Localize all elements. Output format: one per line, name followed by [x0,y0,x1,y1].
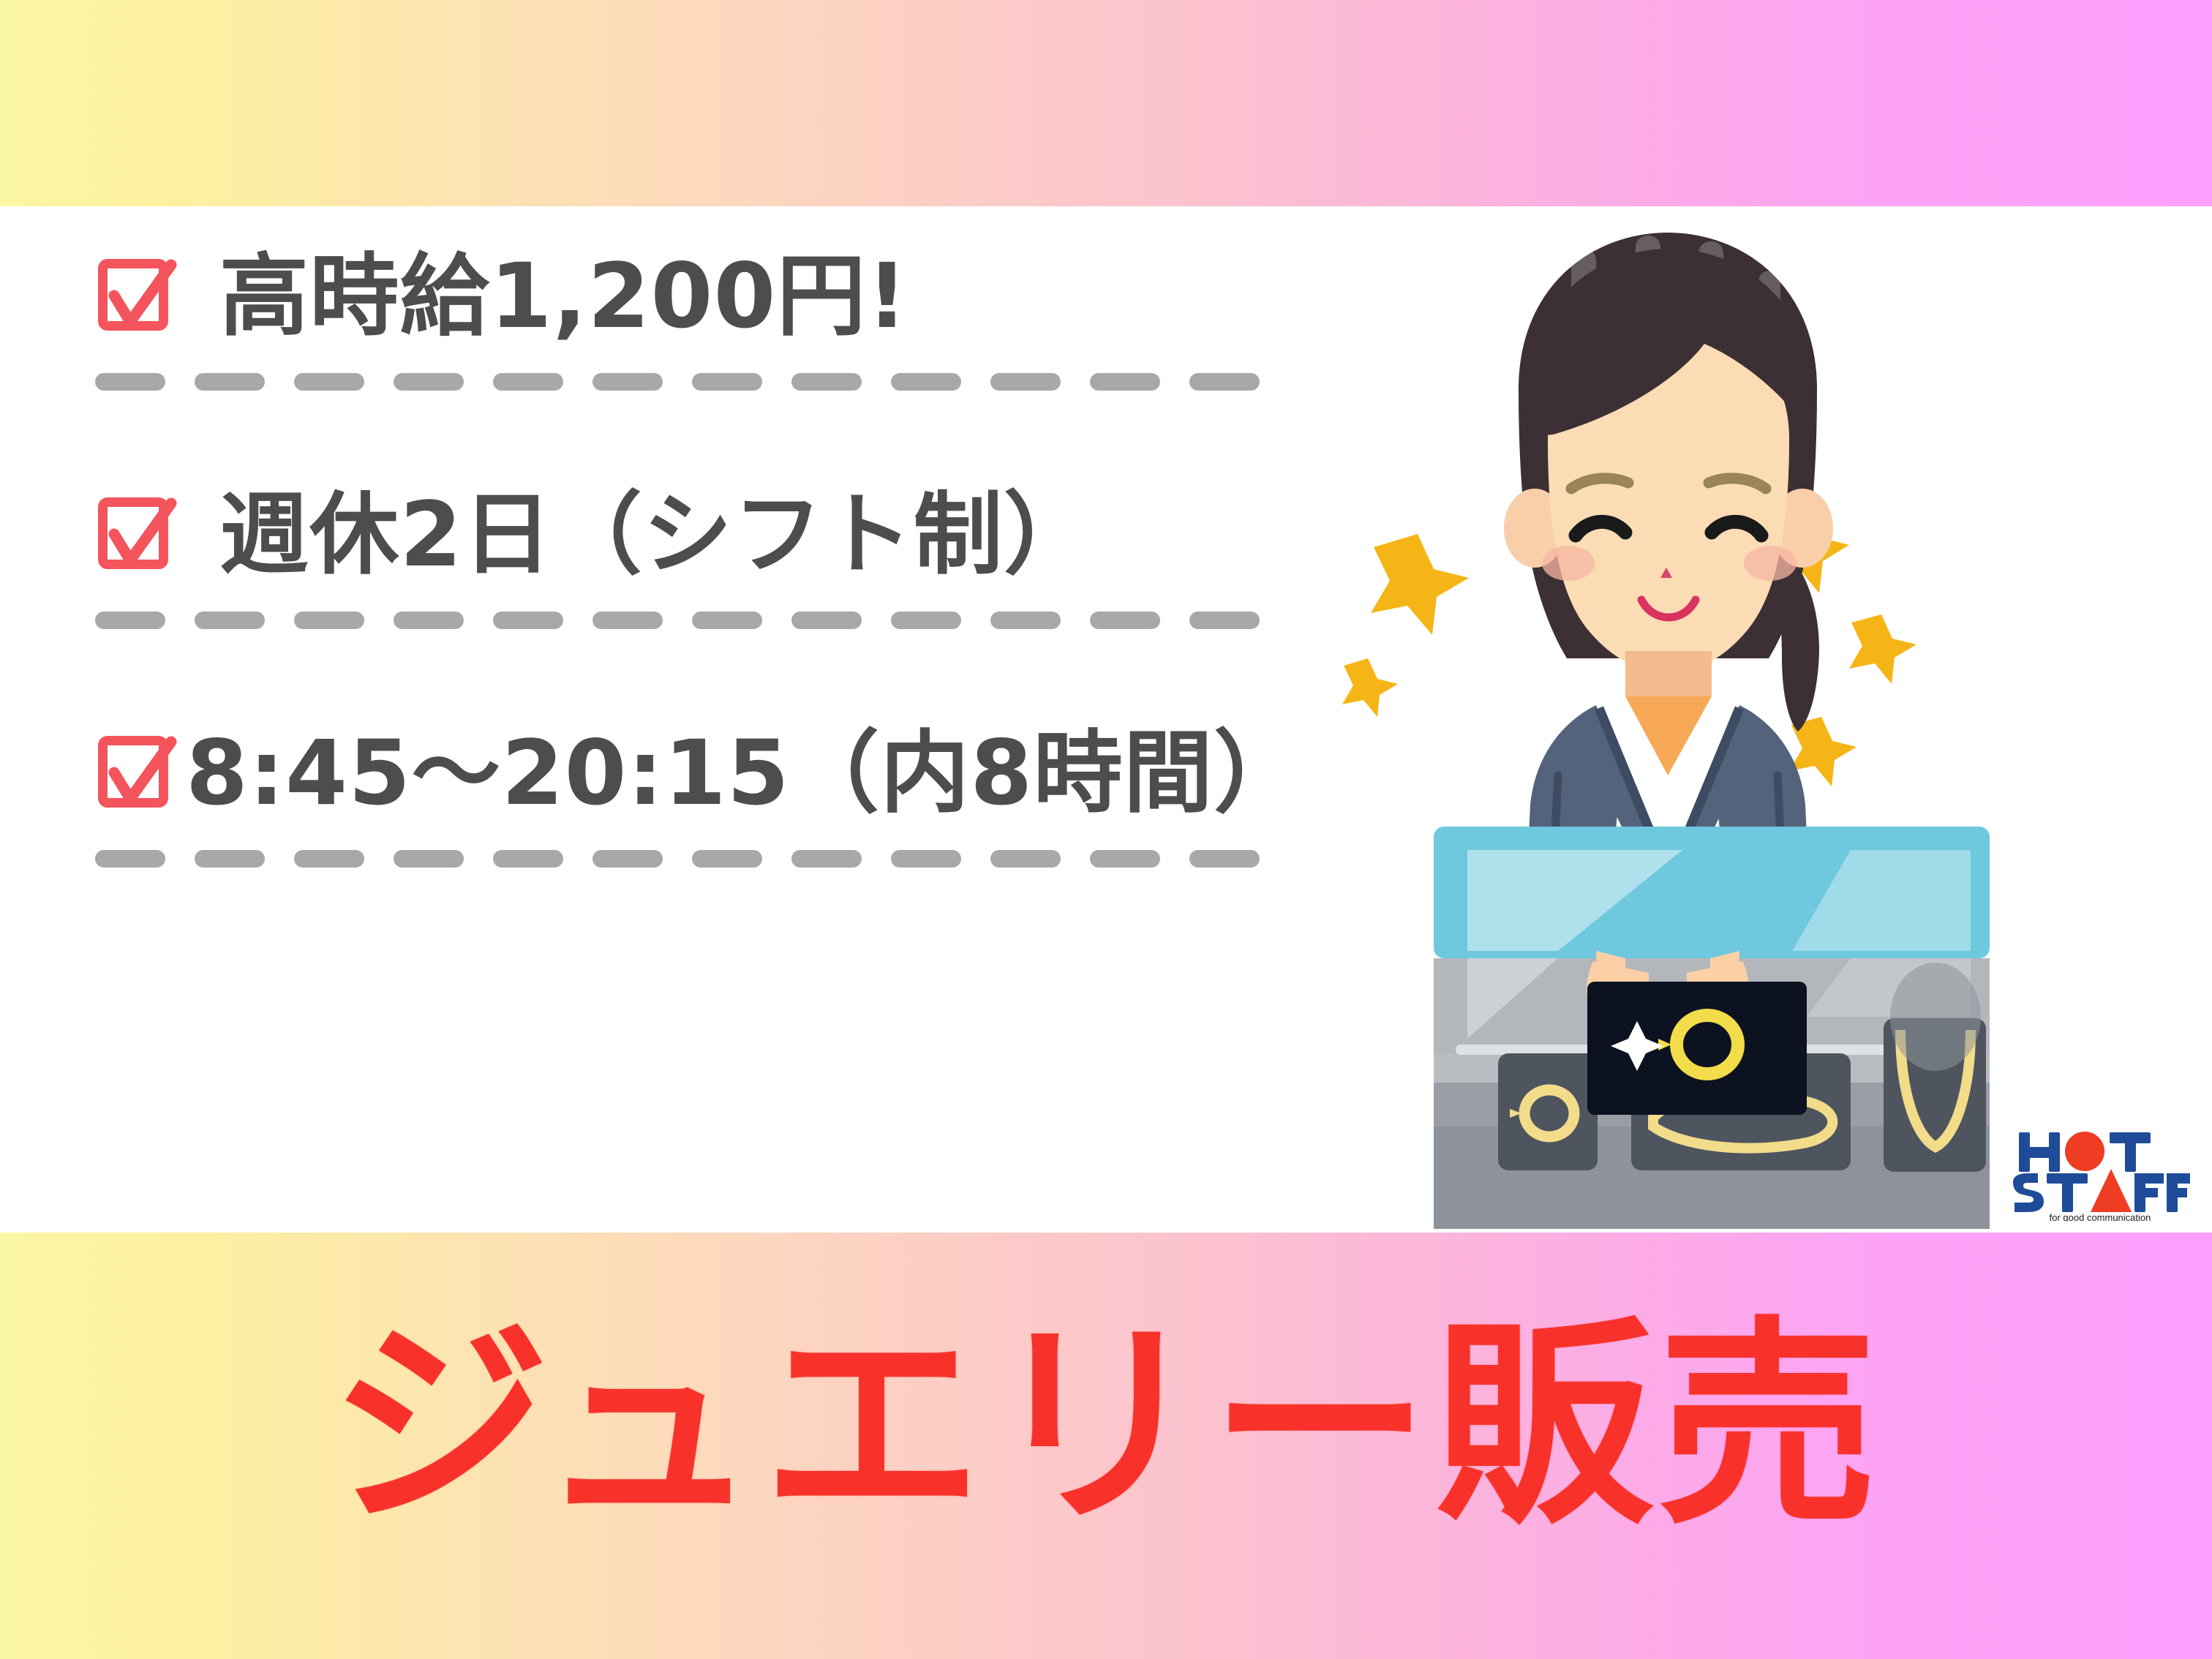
dash-segment [891,612,961,629]
job-benefits-list: 高時給1,200円! [95,219,1339,868]
dashed-separator [95,373,1339,391]
dash-segment [294,850,364,868]
dashed-separator [95,612,1339,629]
dash-segment [95,612,165,629]
dash-segment [692,850,762,868]
dash-segment [592,612,663,629]
dash-segment [493,850,563,868]
dash-segment [891,850,961,868]
dash-segment [1090,612,1160,629]
dash-segment [592,373,663,391]
dashed-separator [95,850,1339,868]
dash-segment [592,850,663,868]
dash-segment [195,850,265,868]
dash-segment [394,612,464,629]
dash-segment [493,612,563,629]
dash-segment [394,850,464,868]
dash-segment [990,373,1061,391]
dash-segment [1090,373,1160,391]
checked-checkbox-icon [95,253,181,339]
checked-checkbox-icon [95,492,181,578]
dash-segment [692,612,762,629]
list-item-label: 高時給1,200円! [219,252,908,341]
dash-segment [791,373,862,391]
dash-segment [95,850,165,868]
dash-segment [1189,373,1260,391]
job-advertisement-poster: 高時給1,200円! [0,0,2212,1659]
dash-segment [791,850,862,868]
logo-tagline: for good communication [2050,1212,2151,1222]
necklace-tray [1884,963,1986,1172]
dash-segment [891,373,961,391]
ring-tray [1498,1053,1598,1170]
dash-segment [692,373,762,391]
dash-segment [791,612,862,629]
hot-staff-logo: for good communication [2010,1125,2190,1222]
page-title: ジュエリー販売 [0,1317,2212,1536]
cheek-left [1542,546,1595,581]
dash-segment [990,850,1061,868]
list-item: 週休2日（シフト制） [95,458,1339,612]
dash-segment [493,373,563,391]
logo-circle-mark [2065,1132,2104,1171]
list-item: 8:45〜20:15（内8時間） [95,696,1339,850]
logo-triangle-mark [2091,1169,2132,1212]
dash-segment [1189,850,1260,868]
dash-segment [294,612,364,629]
cheek-right [1744,546,1797,581]
list-item: 高時給1,200円! [95,219,1339,373]
dash-segment [195,373,265,391]
list-item-label: 8:45〜20:15（内8時間） [186,729,1303,818]
neck [1625,651,1712,702]
dash-segment [1090,850,1160,868]
list-item-label: 週休2日（シフト制） [219,490,1094,579]
dash-segment [95,373,165,391]
dash-segment [394,373,464,391]
dash-segment [990,612,1061,629]
dash-segment [1189,612,1260,629]
top-gradient-band [0,0,2212,206]
checked-checkbox-icon [95,730,181,816]
dash-segment [294,373,364,391]
jewelry-shop-staff-illustration [1339,219,1997,1229]
dash-segment [195,612,265,629]
